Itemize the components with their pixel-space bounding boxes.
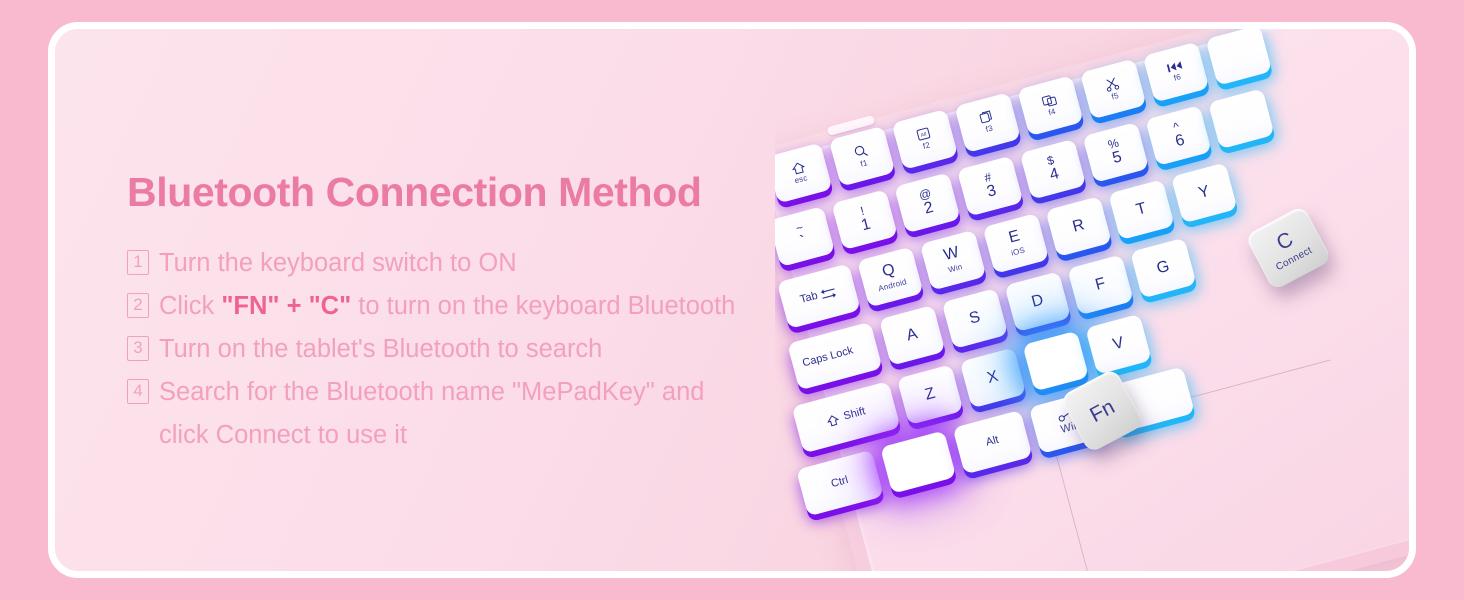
step-3-segment: Turn on the tablet's Bluetooth to search — [159, 335, 602, 363]
key-f2-label: f2 — [922, 142, 931, 152]
key-4-main: 4 — [1048, 167, 1061, 186]
steps-list: 1 Turn the keyboard switch to ON 2 Click… — [127, 242, 847, 457]
key-6[interactable]: ^ 6 — [1145, 105, 1212, 166]
key-y[interactable]: Y — [1171, 162, 1238, 223]
key-f1-label: f1 — [860, 159, 869, 169]
key-c[interactable] — [1022, 331, 1089, 392]
key-w-sub: Win — [947, 263, 963, 275]
key-e[interactable]: E iOS — [983, 213, 1050, 274]
key-1[interactable]: ! 1 — [831, 189, 898, 250]
key-z[interactable]: Z — [897, 364, 964, 425]
key-esc[interactable]: esc — [775, 143, 833, 204]
key-fn-base[interactable] — [880, 430, 956, 493]
key-5-main: 5 — [1111, 150, 1124, 169]
page-title: Bluetooth Connection Method — [127, 169, 847, 216]
instructions-panel: Bluetooth Connection Method 1 Turn the k… — [127, 169, 847, 457]
key-f4-label: f4 — [1048, 108, 1057, 118]
key-v[interactable]: V — [1085, 314, 1152, 375]
key-s-main: S — [968, 309, 983, 328]
step-item-4: 4 Search for the Bluetooth name "MePadKe… — [127, 371, 847, 414]
key-2-main: 2 — [923, 200, 936, 219]
key-5[interactable]: % 5 — [1082, 122, 1149, 183]
key-f5-label: f5 — [1111, 92, 1120, 102]
promo-banner: Bluetooth Connection Method 1 Turn the k… — [0, 0, 1464, 600]
key-t-main: T — [1135, 200, 1149, 219]
step-item-3: 3 Turn on the tablet's Bluetooth to sear… — [127, 328, 847, 371]
key-q[interactable]: Q Android — [857, 247, 924, 308]
key-x-main: X — [986, 368, 1001, 387]
key-4[interactable]: $ 4 — [1020, 139, 1087, 200]
step-2-segment-a: Click — [159, 292, 221, 320]
shift-arrow-icon — [825, 413, 841, 428]
key-7[interactable] — [1208, 88, 1275, 149]
key-tab-label: Tab — [799, 291, 819, 307]
step-item-1: 1 Turn the keyboard switch to ON — [127, 242, 847, 285]
key-v-main: V — [1111, 335, 1126, 354]
key-d[interactable]: D — [1004, 271, 1071, 332]
key-g-main: G — [1155, 258, 1171, 277]
key-backtick-main: ` — [799, 234, 808, 252]
key-s[interactable]: S — [942, 288, 1009, 349]
key-2[interactable]: @ 2 — [894, 172, 961, 233]
key-r-main: R — [1071, 217, 1087, 236]
paste-icon — [1040, 92, 1058, 108]
step-text-3: Turn on the tablet's Bluetooth to search — [159, 328, 847, 371]
key-q-main: Q — [881, 262, 897, 281]
key-3[interactable]: # 3 — [957, 156, 1024, 217]
key-backtick[interactable]: ~ ` — [775, 206, 835, 267]
key-shift[interactable]: Shift — [792, 381, 901, 453]
step-text-2: Click "FN" + "C" to turn on the keyboard… — [159, 285, 847, 328]
banner-card: Bluetooth Connection Method 1 Turn the k… — [48, 22, 1416, 578]
key-a-main: A — [905, 326, 920, 345]
key-ctrl-label: Ctrl — [830, 475, 850, 491]
step-text-1: Turn the keyboard switch to ON — [159, 242, 847, 285]
key-1-main: 1 — [860, 217, 873, 236]
key-alt-label: Alt — [985, 435, 1000, 449]
key-t[interactable]: T — [1108, 179, 1175, 240]
step-number-3: 3 — [127, 336, 149, 361]
key-e-sub: iOS — [1010, 247, 1026, 259]
step-4-segment: Search for the Bluetooth name "MePadKey"… — [159, 378, 704, 406]
step-2-key-combo: "FN" + "C" — [221, 292, 351, 320]
key-3-main: 3 — [985, 183, 998, 202]
key-6-main: 6 — [1174, 133, 1187, 152]
step-1-segment: Turn the keyboard switch to ON — [159, 249, 517, 277]
key-e-main: E — [1007, 229, 1022, 248]
key-caps-lock-label: Caps Lock — [792, 339, 878, 372]
key-f[interactable]: F — [1067, 254, 1134, 315]
step-number-4: 4 — [127, 379, 149, 404]
key-g[interactable]: G — [1130, 238, 1197, 299]
step-2-segment-b: to turn on the keyboard Bluetooth — [351, 292, 735, 320]
step-number-1: 1 — [127, 250, 149, 275]
key-w[interactable]: W Win — [920, 230, 987, 291]
floating-c-connect-key[interactable]: C Connect — [1245, 205, 1332, 291]
svg-text:All: All — [920, 132, 927, 139]
key-d-main: D — [1030, 292, 1046, 311]
tab-arrows-icon — [818, 285, 839, 303]
key-plane: esc f1 All f2 — [775, 25, 1415, 578]
key-caps-lock[interactable]: Caps Lock — [787, 322, 882, 391]
key-f-main: F — [1094, 275, 1108, 294]
key-a[interactable]: A — [879, 305, 946, 366]
key-q-sub: Android — [878, 278, 908, 294]
key-alt[interactable]: Alt — [953, 410, 1033, 474]
key-ctrl[interactable]: Ctrl — [796, 450, 884, 517]
key-f3-label: f3 — [985, 125, 994, 135]
key-1-shift: ! — [859, 205, 865, 218]
floating-c-cap: C — [1273, 229, 1296, 255]
key-tab[interactable]: Tab — [777, 263, 861, 329]
keyboard-illustration: esc f1 All f2 — [775, 25, 1415, 578]
key-x[interactable]: X — [960, 347, 1027, 408]
step-text-4: Search for the Bluetooth name "MePadKey"… — [159, 371, 847, 414]
key-f6-label: f6 — [1173, 73, 1182, 83]
key-r[interactable]: R — [1045, 196, 1112, 257]
key-z-main: Z — [923, 385, 937, 404]
key-y-main: Y — [1197, 183, 1212, 202]
floating-fn-cap: Fn — [1086, 396, 1118, 426]
step-4-continuation: click Connect to use it — [127, 414, 847, 457]
prev-track-icon — [1166, 60, 1184, 75]
step-item-2: 2 Click "FN" + "C" to turn on the keyboa… — [127, 285, 847, 328]
key-shift-label: Shift — [843, 406, 867, 423]
key-esc-label: esc — [794, 174, 809, 185]
step-number-2: 2 — [127, 293, 149, 318]
